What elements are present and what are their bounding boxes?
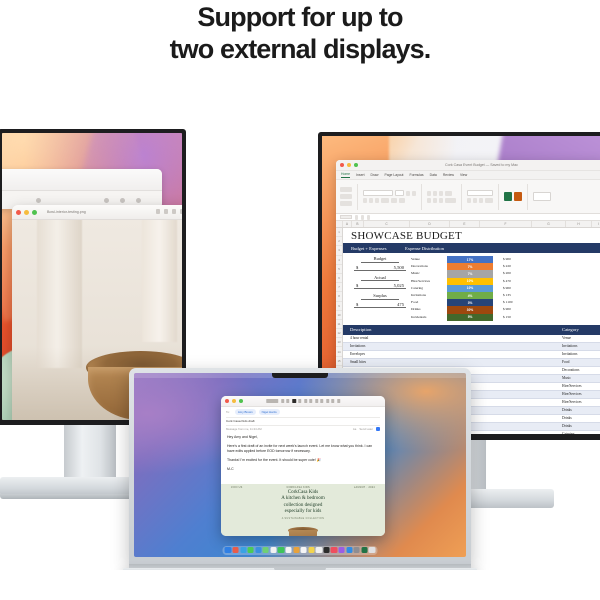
facetime-icon[interactable] — [278, 547, 284, 553]
kpi-column: Budget $ 5,500 Actual — [343, 256, 411, 321]
dist-amount: $ 220 — [503, 263, 531, 270]
row-header[interactable]: 14 — [336, 347, 342, 356]
ribbon-divider — [498, 184, 499, 210]
dist-category: Venue — [411, 256, 443, 263]
mail-toolbar — [221, 396, 385, 407]
formula-bar[interactable] — [336, 214, 600, 221]
align-bottom-button[interactable] — [439, 191, 443, 196]
cell-category: Music — [562, 376, 600, 380]
row-header[interactable]: 10 — [336, 311, 342, 320]
preview-toolbar-icons[interactable] — [156, 209, 182, 214]
invite-card-title: CorkCasa Kids A kitchen & bedroom collec… — [221, 490, 385, 516]
row-header[interactable]: 1 — [336, 228, 342, 237]
conditional-formatting-button[interactable] — [504, 192, 512, 201]
col-category: Category — [562, 327, 600, 332]
close-icon[interactable] — [340, 163, 344, 167]
send-button[interactable] — [376, 427, 380, 431]
dist-bar: 17% — [447, 256, 493, 263]
calendar-icon[interactable] — [286, 547, 292, 553]
ribbon-divider — [357, 184, 358, 210]
table-row[interactable]: InvitationsInvitations — [343, 343, 600, 351]
align-center-button[interactable] — [433, 198, 437, 203]
cell-description: Invitations — [343, 344, 562, 348]
column-header-c[interactable]: C — [364, 221, 410, 227]
product-scene: Bowl-interior-testing.png — [0, 0, 600, 600]
cell-category: Hire/Services — [562, 400, 600, 404]
mail-paragraph-main: Here's a first draft of an invite for ne… — [227, 444, 379, 455]
cancel-formula-icon[interactable] — [355, 215, 358, 220]
toolbar-icon[interactable] — [104, 198, 109, 203]
underline-icon[interactable] — [304, 399, 307, 403]
dist-bar: 3% — [447, 299, 493, 306]
cell-category: Drinks — [562, 424, 600, 428]
photos-icon[interactable] — [270, 547, 276, 553]
invite-cork-bowl-image — [288, 527, 318, 536]
to-label: To: — [226, 410, 230, 414]
excel-ribbon-tabs[interactable]: Home Insert Draw Page Layout Formulas Da… — [336, 171, 600, 180]
reminders-icon[interactable] — [301, 547, 307, 553]
cell-category: Catering — [562, 432, 600, 434]
kpi-label: Budget — [361, 256, 399, 263]
podcasts-icon[interactable] — [339, 547, 345, 553]
dist-category: Incidentals — [411, 314, 443, 321]
dist-amount: $ 200 — [503, 270, 531, 277]
column-header-d[interactable]: D — [410, 221, 450, 227]
invite-card-topline: JOIN US CORKCASA KIDS LAUNCH · 2024 — [221, 484, 385, 489]
row-header[interactable]: 6 — [336, 274, 342, 283]
sheet-title: SHOWCASE BUDGET — [343, 228, 600, 243]
text-color-icon[interactable] — [286, 399, 289, 403]
cell-category: Hire/Services — [562, 384, 600, 388]
messages-icon[interactable] — [248, 547, 254, 553]
cell-description: Small bites — [343, 360, 562, 364]
zoom-icon[interactable] — [239, 399, 243, 403]
tab-draw[interactable]: Draw — [371, 173, 379, 177]
mail-signature: M-C — [227, 467, 379, 472]
tab-data[interactable]: Data — [430, 173, 437, 177]
markup-icon[interactable] — [156, 209, 160, 214]
dist-category: Food — [411, 299, 443, 306]
invite-top-right: LAUNCH · 2024 — [354, 486, 375, 489]
sheet-main-area: Budget $ 5,500 Actual — [343, 253, 600, 321]
dist-bar: 7% — [447, 263, 493, 270]
row-header[interactable]: 8 — [336, 292, 342, 301]
minimize-icon[interactable] — [347, 163, 351, 167]
dist-amount: $ 470 — [503, 278, 531, 285]
fill-color-button[interactable] — [391, 198, 397, 203]
font-size-select[interactable] — [281, 399, 284, 403]
column-header-h[interactable]: H — [566, 221, 592, 227]
kpi-budget: Budget $ 5,500 — [349, 256, 411, 271]
cell-category: Drinks — [562, 408, 600, 412]
camera-notch — [272, 373, 328, 378]
currency-format-button[interactable] — [467, 198, 471, 203]
row-header[interactable]: 2 — [336, 237, 342, 246]
comma-format-button[interactable] — [479, 198, 483, 203]
section-expense-distribution: Expense Distribution — [405, 246, 600, 251]
table-row[interactable]: EnvelopesInvitations — [343, 351, 600, 359]
maps-icon[interactable] — [263, 547, 269, 553]
kpi-value: 475 — [397, 302, 404, 307]
mail-compose-window[interactable]: To: Amy Brown Nigel Harris Cork Casa Kid… — [221, 396, 385, 536]
emoji-icon[interactable] — [337, 399, 340, 403]
merge-cells-button[interactable] — [445, 198, 456, 203]
mail-meta-right[interactable]: Aa Send Later — [353, 427, 380, 431]
recipient-pill[interactable]: Nigel Harris — [259, 409, 280, 415]
align-middle-button[interactable] — [433, 191, 437, 196]
dist-category: Music — [411, 270, 443, 277]
dist-category: Hire/Services — [411, 278, 443, 285]
macbook-air: To: Amy Brown Nigel Harris Cork Casa Kid… — [129, 368, 471, 593]
excel-ribbon[interactable] — [336, 180, 600, 214]
sheet-section-headers: Budget + Expenses Expense Distribution — [343, 243, 600, 253]
ribbon-divider — [461, 184, 462, 210]
systemsettings-icon[interactable] — [354, 547, 360, 553]
section-budget-expenses: Budget + Expenses — [343, 246, 405, 251]
dist-bar: 5% — [447, 314, 493, 321]
column-header-f[interactable]: F — [480, 221, 532, 227]
preview-icon[interactable] — [369, 547, 375, 553]
appstore-icon[interactable] — [346, 547, 352, 553]
row-header[interactable]: 11 — [336, 320, 342, 329]
attach-icon[interactable] — [331, 399, 334, 403]
column-header-b[interactable]: B — [352, 221, 364, 227]
rotate-icon[interactable] — [164, 209, 168, 214]
bullet-list-icon[interactable] — [320, 399, 323, 403]
dist-amount: $ 900 — [503, 306, 531, 313]
row-header[interactable]: 15 — [336, 357, 342, 366]
column-header-e[interactable]: E — [450, 221, 480, 227]
dist-bar: 10% — [447, 278, 493, 285]
font-color-button[interactable] — [399, 198, 405, 203]
invite-card-attachment[interactable]: JOIN US CORKCASA KIDS LAUNCH · 2024 Cork… — [221, 484, 385, 536]
cell-styles-gallery[interactable] — [533, 192, 551, 201]
table-row[interactable]: 4 hour rentalVenue — [343, 335, 600, 343]
tab-page-layout[interactable]: Page Layout — [384, 173, 403, 177]
music-icon[interactable] — [331, 547, 337, 553]
toolbar-icon[interactable] — [36, 198, 41, 203]
italic-icon[interactable] — [298, 399, 301, 403]
dist-category: Invitations — [411, 292, 443, 299]
cell-category: Drinks — [562, 416, 600, 420]
ribbon-group-cells[interactable] — [533, 192, 551, 201]
dist-bar: 10% — [447, 285, 493, 292]
kpi-currency: $ — [356, 265, 358, 270]
ribbon-divider — [421, 184, 422, 210]
macos-dock[interactable] — [223, 546, 378, 555]
ribbon-group-clipboard[interactable] — [340, 187, 352, 206]
kpi-value: 5,500 — [394, 265, 404, 270]
ribbon-divider — [527, 184, 528, 210]
decimal-buttons[interactable] — [485, 198, 493, 203]
minimize-icon[interactable] — [232, 399, 236, 403]
search-icon[interactable] — [180, 209, 182, 214]
row-header[interactable]: 3 — [336, 246, 342, 255]
recipient-pill[interactable]: Amy Brown — [235, 409, 256, 415]
cell-description: 4 hour rental — [343, 336, 562, 340]
row-header[interactable]: 5 — [336, 265, 342, 274]
background-window-toolbar — [2, 169, 162, 191]
subject-field[interactable]: Cork Casa Kids draft — [226, 419, 380, 424]
tv-icon[interactable] — [323, 547, 329, 553]
excel-titlebar: Cork Casa Event Budget — Saved to my Mac — [336, 160, 600, 171]
macbook-lid: To: Amy Brown Nigel Harris Cork Casa Kid… — [129, 368, 471, 566]
insert-function-icon[interactable] — [367, 215, 370, 220]
background-window[interactable] — [2, 169, 162, 209]
col-description: Description — [343, 327, 562, 332]
row-header[interactable]: 4 — [336, 256, 342, 265]
row-header[interactable]: 7 — [336, 283, 342, 292]
mail-icon[interactable] — [255, 547, 261, 553]
close-icon[interactable] — [225, 399, 229, 403]
photo-pillar — [37, 220, 83, 368]
column-header-i[interactable]: I — [592, 221, 600, 227]
expense-distribution-chart: Venue Decorations Music Hire/Services Ca… — [411, 256, 600, 321]
photo-pillar-2 — [142, 220, 177, 342]
ribbon-group-number[interactable] — [467, 190, 493, 203]
column-headers[interactable]: A B C D E F G H I — [336, 221, 600, 228]
left-display-stand-neck — [64, 425, 116, 480]
cell-category: Decorations — [562, 368, 600, 372]
ribbon-group-styles[interactable] — [504, 192, 522, 201]
contacts-icon[interactable] — [293, 547, 299, 553]
align-top-button[interactable] — [427, 191, 431, 196]
underline-button[interactable] — [375, 198, 379, 203]
bowl-body — [289, 530, 317, 536]
dist-amount: $ 900 — [503, 256, 531, 263]
cell-category: Food — [562, 360, 600, 364]
number-format-select[interactable] — [467, 190, 493, 196]
freeform-icon[interactable] — [316, 547, 322, 553]
zoom-icon[interactable] — [32, 210, 37, 215]
macbook-screen: To: Amy Brown Nigel Harris Cork Casa Kid… — [134, 373, 466, 557]
row-header[interactable]: 13 — [336, 338, 342, 347]
distribution-category-labels: Venue Decorations Music Hire/Services Ca… — [411, 256, 443, 321]
ribbon-group-alignment[interactable] — [427, 191, 456, 203]
numbered-list-icon[interactable] — [326, 399, 329, 403]
cell-category: Venue — [562, 336, 600, 340]
kpi-value: 5,025 — [394, 283, 404, 288]
preview-titlebar: Bowl-interior-testing.png — [12, 205, 182, 220]
dist-category: Decorations — [411, 263, 443, 270]
excel-window-title: Cork Casa Event Budget — Saved to my Mac — [361, 163, 600, 167]
finder-icon[interactable] — [225, 547, 231, 553]
format-painter-button[interactable] — [340, 201, 352, 206]
confirm-formula-icon[interactable] — [361, 215, 364, 220]
tab-review[interactable]: Review — [443, 173, 454, 177]
tab-view[interactable]: View — [460, 173, 467, 177]
border-button[interactable] — [381, 198, 389, 203]
table-row[interactable]: Small bitesFood — [343, 359, 600, 367]
mail-header: To: Amy Brown Nigel Harris Cork Casa Kid… — [221, 407, 385, 432]
dist-category: Catering — [411, 285, 443, 292]
increase-font-button[interactable] — [406, 191, 410, 196]
distribution-amounts: $ 900 $ 220 $ 200 $ 470 $ 900 $ 135 $ 11… — [497, 256, 531, 321]
bold-icon[interactable] — [292, 399, 296, 403]
zoom-icon[interactable] — [354, 163, 358, 167]
ribbon-group-font[interactable] — [363, 190, 416, 203]
dist-amount: $ 1100 — [503, 299, 531, 306]
column-header-g[interactable]: G — [532, 221, 566, 227]
invite-top-center: CORKCASA KIDS — [286, 486, 309, 489]
dist-amount: $ 150 — [503, 314, 531, 321]
kpi-surplus: Surplus $ 475 — [349, 293, 411, 308]
tab-formulas[interactable]: Formulas — [410, 173, 424, 177]
kpi-currency: $ — [356, 302, 358, 307]
dist-bar: 30% — [447, 306, 493, 313]
invite-card-subtitle: A SUSTAINABLE COLLECTION — [221, 518, 385, 520]
align-right-button[interactable] — [439, 198, 443, 203]
preview-window-title: Bowl-interior-testing.png — [47, 210, 86, 214]
minimize-icon[interactable] — [24, 210, 29, 215]
toolbar-icon[interactable] — [136, 198, 141, 203]
cell-description: Envelopes — [343, 352, 562, 356]
invite-title-line: especially for kids — [221, 509, 385, 515]
excel-icon[interactable] — [361, 547, 367, 553]
dist-category: Drinks — [411, 306, 443, 313]
close-icon[interactable] — [16, 210, 21, 215]
kpi-label: Actual — [361, 275, 399, 282]
dist-amount: $ 900 — [503, 285, 531, 292]
column-header-corner[interactable] — [336, 221, 343, 227]
align-left-button[interactable] — [427, 198, 431, 203]
distribution-bars: 17% 7% 7% 10% 10% 4% 3% 30% 5% — [447, 256, 493, 321]
formatting-toolbar[interactable] — [266, 399, 340, 403]
launchpad-icon[interactable] — [232, 547, 238, 553]
mail-paragraph-greeting: Hey Amy and Nigel, — [227, 435, 379, 440]
mail-paragraph-closing: Thanks! I'm excited for the event. It sh… — [227, 458, 379, 463]
font-picker-label[interactable]: Aa — [353, 427, 356, 431]
column-header-a[interactable]: A — [343, 221, 352, 227]
cell-category: Invitations — [562, 344, 600, 348]
divider — [226, 425, 380, 426]
cell-category: Invitations — [562, 352, 600, 356]
mail-body[interactable]: Hey Amy and Nigel, Here's a first draft … — [221, 432, 385, 473]
mail-meta-left: Message from me, 11:24 AM — [226, 427, 262, 431]
dist-amount: $ 135 — [503, 292, 531, 299]
decrease-font-button[interactable] — [412, 191, 416, 196]
font-name-select[interactable] — [363, 190, 393, 196]
dist-bar: 7% — [447, 270, 493, 277]
invite-top-left: JOIN US — [231, 486, 243, 489]
row-header[interactable]: 12 — [336, 329, 342, 338]
expense-table-header: Description Category — [343, 325, 600, 335]
italic-button[interactable] — [369, 198, 373, 203]
toolbar-icon[interactable] — [120, 198, 125, 203]
bold-button[interactable] — [363, 198, 367, 203]
dist-bar: 4% — [447, 292, 493, 299]
font-size-select[interactable] — [395, 190, 404, 196]
align-center-icon[interactable] — [315, 399, 318, 403]
name-box[interactable] — [340, 215, 352, 219]
send-later-label[interactable]: Send Later — [359, 427, 373, 431]
kpi-actual: Actual $ 5,025 — [349, 275, 411, 290]
kpi-currency: $ — [356, 283, 358, 288]
format-as-table-button[interactable] — [514, 192, 522, 201]
row-header[interactable]: 9 — [336, 302, 342, 311]
bottom-mask — [0, 570, 600, 600]
kpi-label: Surplus — [361, 293, 399, 300]
tab-home[interactable]: Home — [341, 172, 350, 178]
align-left-icon[interactable] — [309, 399, 312, 403]
tab-insert[interactable]: Insert — [356, 173, 364, 177]
cell-category: Hire/Services — [562, 392, 600, 396]
copy-button[interactable] — [340, 194, 352, 199]
safari-icon[interactable] — [240, 547, 246, 553]
wrap-text-button[interactable] — [445, 191, 452, 196]
paste-button[interactable] — [340, 187, 352, 192]
divider — [226, 417, 380, 418]
font-style-select[interactable] — [266, 399, 278, 403]
recipient-row[interactable]: To: Amy Brown Nigel Harris — [226, 409, 380, 415]
share-icon[interactable] — [172, 209, 176, 214]
notes-icon[interactable] — [308, 547, 314, 553]
percent-format-button[interactable] — [473, 198, 477, 203]
